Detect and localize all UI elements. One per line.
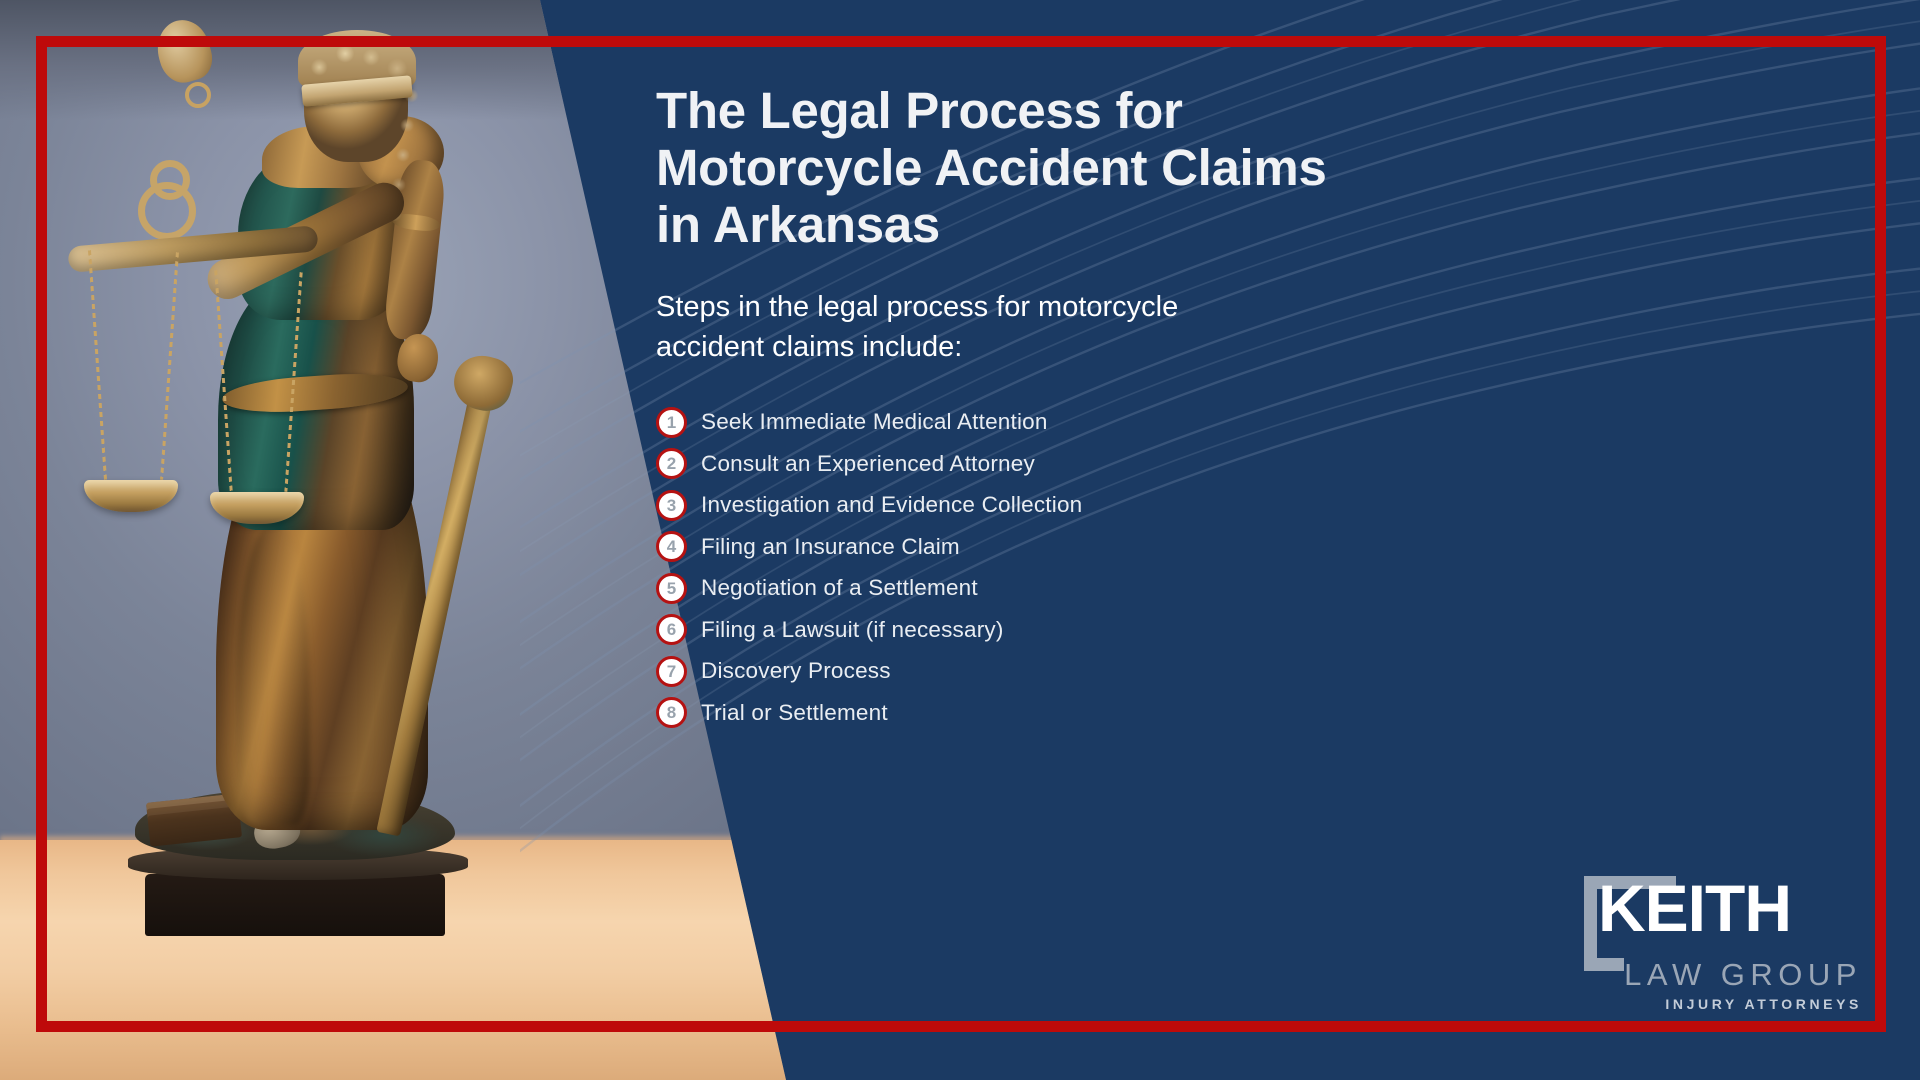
step-label: Negotiation of a Settlement — [701, 575, 978, 601]
subtitle: Steps in the legal process for motorcycl… — [656, 287, 1296, 367]
step-label: Filing a Lawsuit (if necessary) — [701, 617, 1004, 643]
step-number-badge: 5 — [656, 573, 687, 604]
list-item: 2 Consult an Experienced Attorney — [656, 443, 1756, 485]
list-item: 5 Negotiation of a Settlement — [656, 567, 1756, 609]
content-column: The Legal Process for Motorcycle Acciden… — [656, 82, 1756, 733]
logo-tagline: INJURY ATTORNEYS — [1572, 997, 1862, 1012]
list-item: 1 Seek Immediate Medical Attention — [656, 401, 1756, 443]
statue-leg-shading — [236, 526, 310, 826]
step-label: Investigation and Evidence Collection — [701, 492, 1082, 518]
logo-name: KEITH — [1598, 874, 1791, 943]
justice-statue — [40, 70, 560, 930]
list-item: 4 Filing an Insurance Claim — [656, 526, 1756, 568]
step-number-badge: 4 — [656, 531, 687, 562]
list-item: 3 Investigation and Evidence Collection — [656, 484, 1756, 526]
page-title: The Legal Process for Motorcycle Acciden… — [656, 82, 1756, 253]
scales-ornament-lower — [138, 182, 196, 240]
step-number-badge: 2 — [656, 448, 687, 479]
scale-pan-left — [84, 480, 178, 512]
scales-suspension-ring-icon — [185, 82, 211, 108]
step-number-badge: 8 — [656, 697, 687, 728]
step-label: Consult an Experienced Attorney — [701, 451, 1035, 477]
list-item: 6 Filing a Lawsuit (if necessary) — [656, 609, 1756, 651]
scale-chain — [160, 252, 179, 480]
list-item: 7 Discovery Process — [656, 650, 1756, 692]
step-number-badge: 7 — [656, 656, 687, 687]
step-number-badge: 3 — [656, 490, 687, 521]
step-number-badge: 1 — [656, 407, 687, 438]
step-label: Filing an Insurance Claim — [701, 534, 960, 560]
keith-law-group-logo: KEITH LAW GROUP INJURY ATTORNEYS — [1572, 874, 1862, 1012]
statue-plinth — [145, 874, 445, 936]
step-label: Trial or Settlement — [701, 700, 888, 726]
step-label: Discovery Process — [701, 658, 891, 684]
steps-list: 1 Seek Immediate Medical Attention 2 Con… — [656, 401, 1756, 733]
logo-mark: KEITH — [1572, 874, 1862, 960]
step-number-badge: 6 — [656, 614, 687, 645]
step-label: Seek Immediate Medical Attention — [701, 409, 1048, 435]
infographic-canvas: The Legal Process for Motorcycle Acciden… — [0, 0, 1920, 1080]
list-item: 8 Trial or Settlement — [656, 692, 1756, 734]
sword-hilt — [448, 350, 517, 416]
scale-chain — [88, 250, 107, 480]
